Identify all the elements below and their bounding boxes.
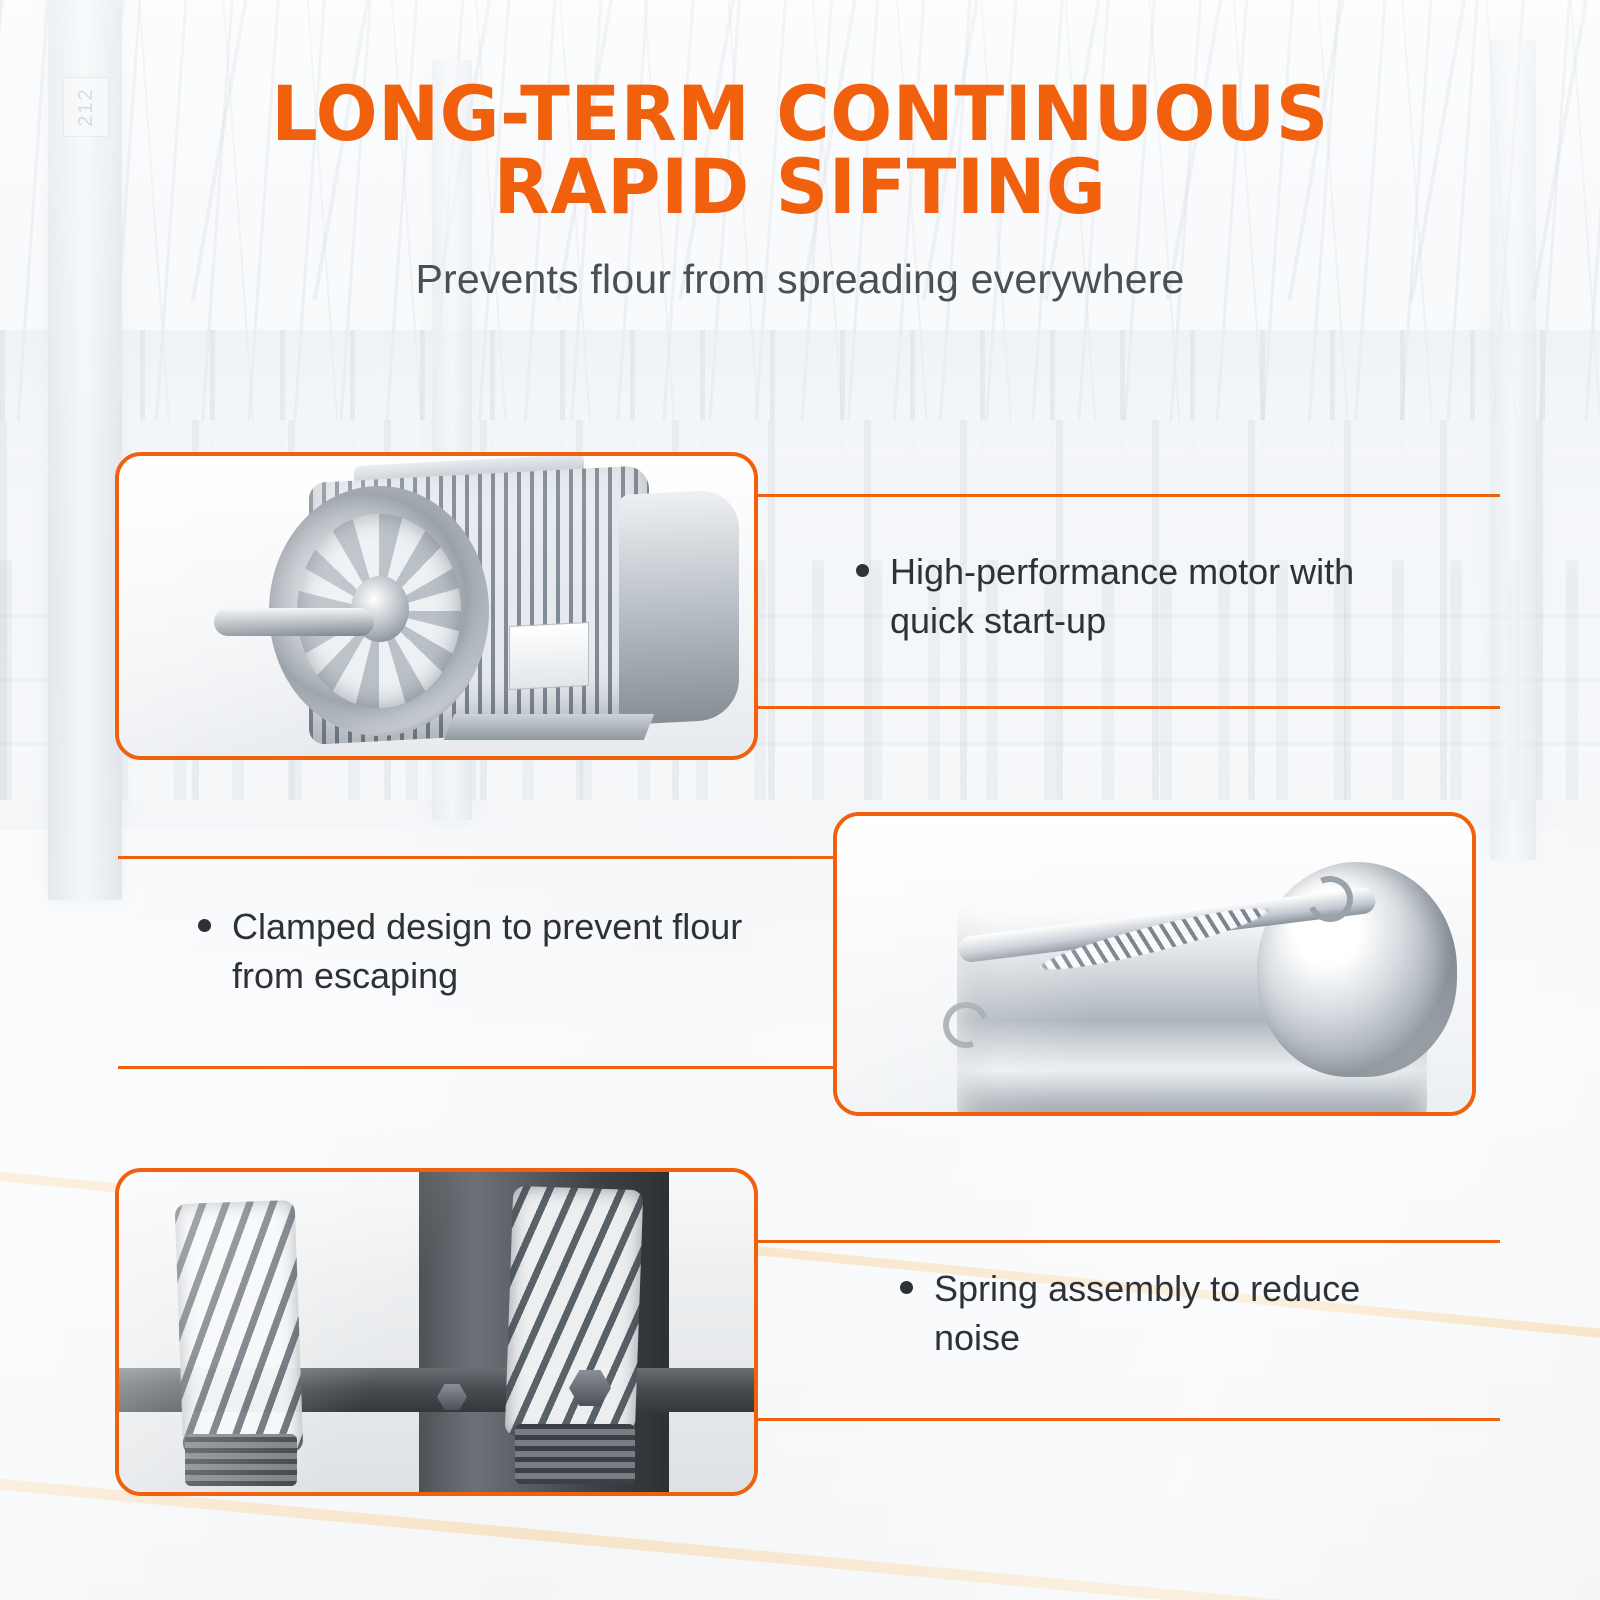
motor-mounting-foot <box>444 714 655 740</box>
bullet-icon <box>900 1281 913 1294</box>
feature-caption-text: High-performance motor with quick start-… <box>890 548 1376 645</box>
motor-photo <box>119 456 754 756</box>
spring-base <box>515 1424 635 1484</box>
coil-spring <box>175 1200 304 1456</box>
motor-drive-shaft <box>214 608 374 636</box>
coil-spring <box>505 1186 644 1440</box>
page-title: LONG-TERM CONTINUOUS RAPID SIFTING <box>32 78 1568 224</box>
spring-assembly-photo <box>119 1172 754 1492</box>
connector-line-motor-top <box>748 494 1500 497</box>
connector-line-motor-bottom <box>748 706 1500 709</box>
motor-end-cap <box>619 489 739 725</box>
spring-base <box>185 1434 297 1486</box>
connector-line-spring-top <box>748 1240 1500 1243</box>
connector-line-clamp-bottom <box>118 1066 838 1069</box>
product-feature-poster: 212 LONG-TERM CONTINUOUS RAPID SIFTING P… <box>0 0 1600 1600</box>
feature-caption-motor: High-performance motor with quick start-… <box>856 548 1376 645</box>
page-subtitle: Prevents flour from spreading everywhere <box>0 256 1600 303</box>
feature-caption-text: Clamped design to prevent flour from esc… <box>232 903 758 1000</box>
connector-line-clamp-top <box>118 856 838 859</box>
connector-line-spring-bottom <box>748 1418 1500 1421</box>
bullet-icon <box>198 919 211 932</box>
motor-nameplate <box>509 622 589 690</box>
feature-caption-text: Spring assembly to reduce noise <box>934 1265 1420 1362</box>
title-line-2: RAPID SIFTING <box>32 151 1568 224</box>
bullet-icon <box>856 564 869 577</box>
feature-image-clamp <box>833 812 1476 1116</box>
poster-heading-block: LONG-TERM CONTINUOUS RAPID SIFTING Preve… <box>0 78 1600 303</box>
feature-caption-spring: Spring assembly to reduce noise <box>900 1265 1420 1362</box>
clamp-photo <box>837 816 1472 1112</box>
feature-image-motor <box>115 452 758 760</box>
feature-caption-clamp: Clamped design to prevent flour from esc… <box>198 903 758 1000</box>
feature-image-spring <box>115 1168 758 1496</box>
